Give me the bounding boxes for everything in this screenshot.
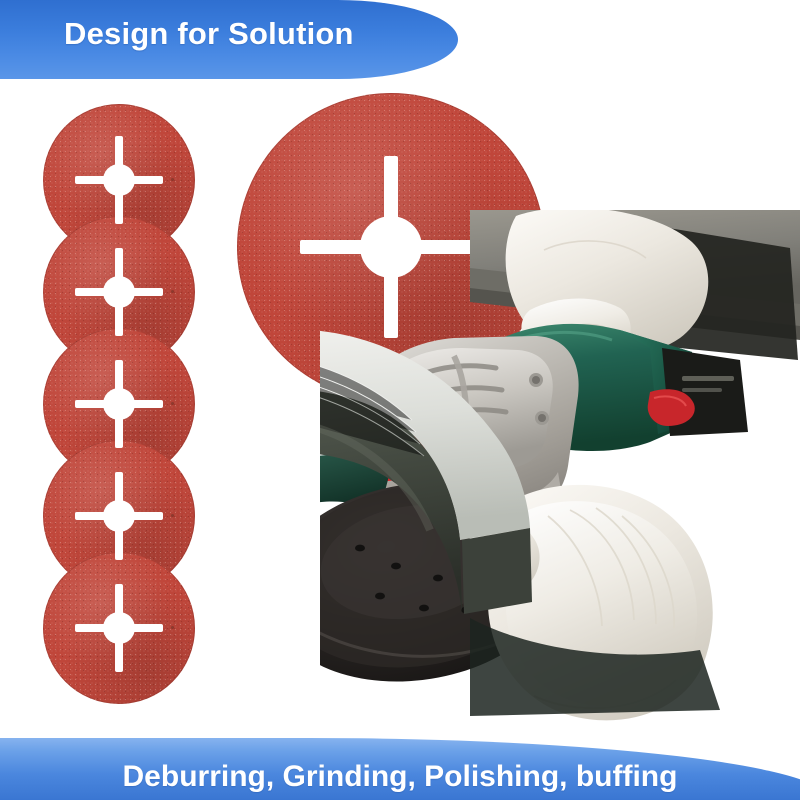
disc-hub-hole — [103, 612, 135, 644]
disc-speck — [171, 402, 174, 405]
disc-speck — [171, 626, 174, 629]
disc-speck — [171, 178, 174, 181]
page-title: Design for Solution — [64, 16, 354, 52]
disc-speck — [171, 514, 174, 517]
product-banner-canvas: Design for Solution Deburring, Grinding,… — [0, 0, 800, 800]
disc-hub-hole — [103, 276, 135, 308]
disc-hub-hole — [103, 388, 135, 420]
grinder-scene-photo — [320, 210, 800, 730]
disc-hub-hole — [103, 500, 135, 532]
list-item — [43, 552, 195, 704]
disc-hub-hole — [103, 164, 135, 196]
applications-caption: Deburring, Grinding, Polishing, buffing — [0, 760, 800, 794]
disc-speck — [171, 290, 174, 293]
